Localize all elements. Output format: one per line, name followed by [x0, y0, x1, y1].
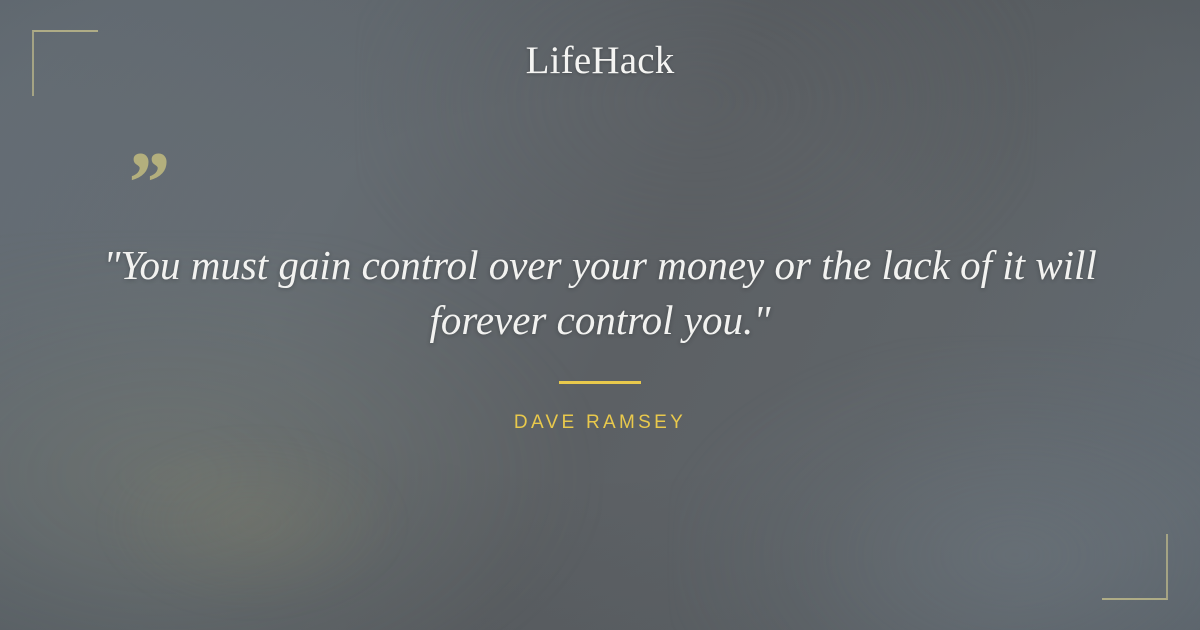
gold-divider — [559, 381, 641, 384]
brand-logo: LifeHack — [0, 38, 1200, 83]
quote-line-1: "You must gain control over your money o… — [103, 242, 1097, 288]
quotation-mark-icon: ” — [124, 140, 168, 228]
author-name: DAVE RAMSEY — [0, 412, 1200, 434]
quote-line-2: forever control you." — [430, 297, 771, 343]
quote-card: LifeHack ” "You must gain control over y… — [0, 0, 1200, 630]
corner-bracket-bottom-right-icon — [1102, 534, 1168, 600]
quote-text: "You must gain control over your money o… — [96, 238, 1104, 348]
quote-container: "You must gain control over your money o… — [96, 238, 1104, 348]
divider-container — [0, 381, 1200, 384]
